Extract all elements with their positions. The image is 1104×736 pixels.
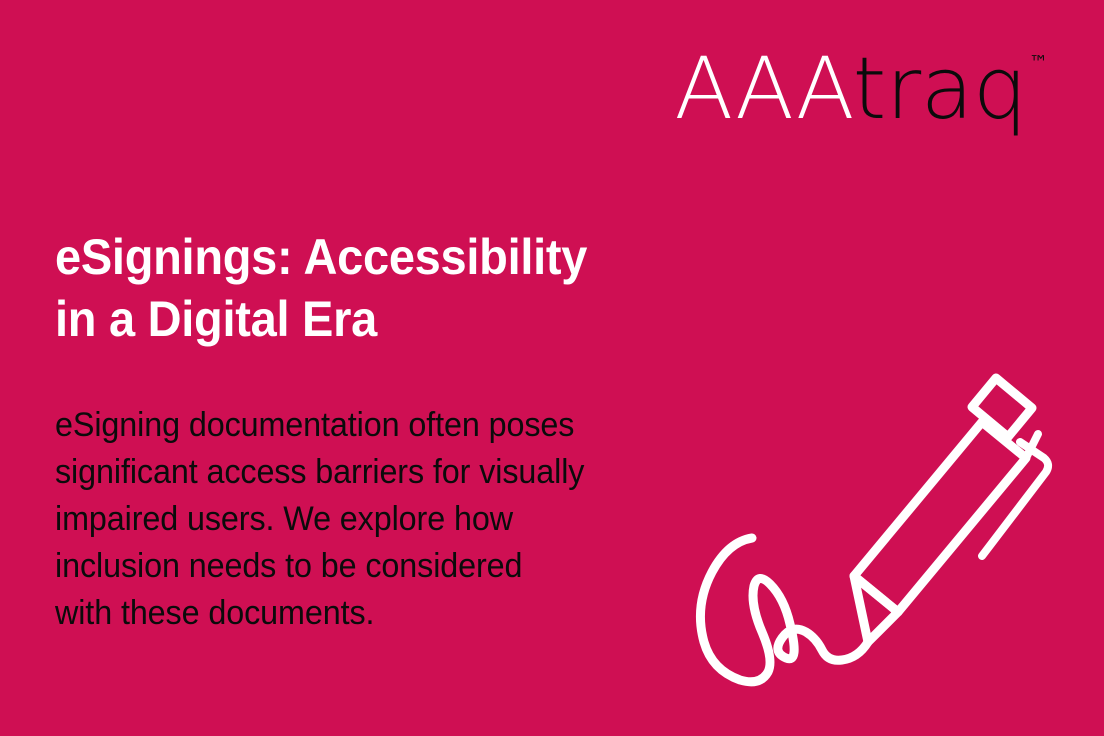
- pen-clip-icon: [982, 442, 1048, 556]
- body-line-5: with these documents.: [55, 590, 701, 637]
- body-paragraph: eSigning documentation often poses signi…: [55, 402, 701, 637]
- headline-line-2: in a Digital Era: [55, 288, 675, 350]
- pen-button-icon: [972, 378, 1032, 437]
- signature-stroke-icon: [700, 538, 868, 682]
- pen-barrel-icon: [854, 422, 1026, 612]
- body-line-4: inclusion needs to be considered: [55, 543, 701, 590]
- promo-card: AAAtraq ™ eSignings: Accessibility in a …: [0, 0, 1104, 736]
- body-line-3: impaired users. We explore how: [55, 496, 701, 543]
- logo-traq-text: traq: [853, 39, 1027, 139]
- logo-aaa-text: AAA: [674, 39, 852, 139]
- page-title: eSignings: Accessibility in a Digital Er…: [55, 226, 675, 350]
- pen-signature-illustration: [676, 360, 1076, 700]
- body-line-1: eSigning documentation often poses: [55, 402, 701, 449]
- pen-collar-icon: [1026, 434, 1038, 458]
- body-line-2: significant access barriers for visually: [55, 449, 701, 496]
- headline-line-1: eSignings: Accessibility: [55, 226, 675, 288]
- pen-nib-icon: [854, 576, 898, 642]
- logo-wordmark: AAAtraq: [674, 46, 1027, 132]
- trademark-symbol: ™: [1029, 54, 1048, 73]
- aaatraq-logo[interactable]: AAAtraq ™: [674, 46, 1048, 132]
